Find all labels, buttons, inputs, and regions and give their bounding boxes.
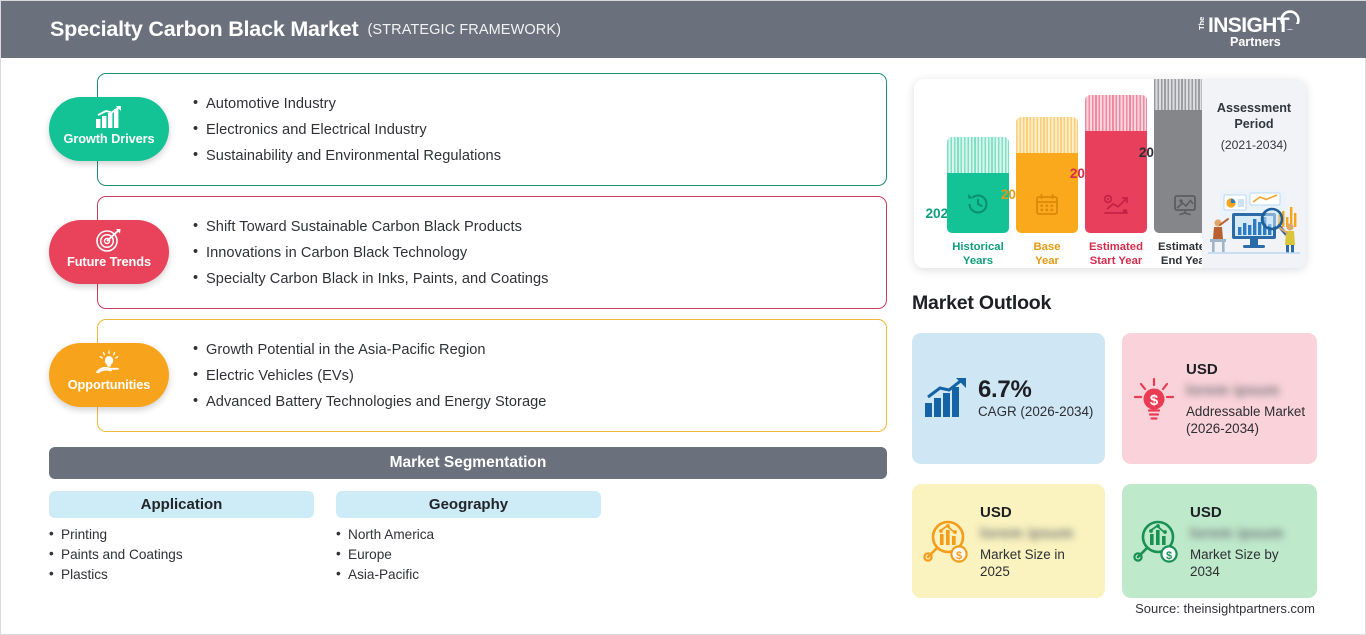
badge-label: Future Trends [67, 254, 151, 269]
assessment-bars: 2021-2024 Historical Years [914, 79, 1202, 268]
segmentation-column-title: Geography [429, 496, 508, 513]
list-item: Automotive Industry [193, 96, 501, 112]
currency-label: USD [1186, 360, 1309, 379]
list-item: Plastics [49, 567, 314, 582]
bar-caption: Base Year [1008, 241, 1086, 268]
market-outlook-title: Market Outlook [912, 292, 1051, 315]
bar-caption: Estimated Start Year [1077, 241, 1155, 268]
segmentation-column-application: Application Printing Paints and Coatings… [49, 491, 314, 587]
list-item: Growth Potential in the Asia-Pacific Reg… [193, 342, 546, 358]
svg-text:$: $ [956, 550, 962, 562]
card-caption: Addressable Market (2026-2034) [1186, 403, 1309, 437]
outlook-card-addressable-market: $ USD lorem ipsum Addressable Market (20… [1122, 333, 1317, 464]
list-item: Printing [49, 527, 314, 542]
market-segmentation-heading: Market Segmentation [49, 447, 887, 479]
svg-text:$: $ [1166, 550, 1172, 562]
svg-text:INSIGHT: INSIGHT [1208, 14, 1290, 37]
calendar-icon [1035, 193, 1060, 222]
bar-estimated-start-year [1085, 95, 1147, 233]
cagr-caption: CAGR (2026-2034) [978, 403, 1093, 420]
bar-caption: Historical Years [939, 241, 1017, 268]
redacted-value: lorem ipsum [1186, 380, 1309, 401]
list-item: Electronics and Electrical Industry [193, 122, 501, 138]
list-item: Advanced Battery Technologies and Energy… [193, 394, 546, 410]
list-item: Shift Toward Sustainable Carbon Black Pr… [193, 219, 549, 235]
list-item: Europe [336, 547, 601, 562]
data-analytics-illustration [1206, 187, 1302, 264]
chart-gear-icon [1102, 193, 1130, 222]
badge-future-trends[interactable]: Future Trends [49, 220, 169, 284]
pillar-box-growth-drivers: Automotive Industry Electronics and Elec… [97, 73, 887, 186]
badge-growth-drivers[interactable]: Growth Drivers [49, 97, 169, 161]
presentation-image-icon [1172, 193, 1198, 222]
segmentation-column-header: Geography [336, 491, 601, 518]
bar-chart-growth-icon [922, 377, 970, 421]
badge-opportunities[interactable]: Opportunities [49, 343, 169, 407]
future-trends-list: Shift Toward Sustainable Carbon Black Pr… [193, 197, 549, 308]
outlook-card-market-size-2034: $ USD lorem ipsum Market Size by 2034 [1122, 484, 1317, 598]
outlook-card-market-size-2025: $ USD lorem ipsum Market Size in 2025 [912, 484, 1105, 598]
assessment-period-card: 2021-2024 Historical Years [914, 79, 1306, 268]
card-caption: Market Size in 2025 [980, 546, 1097, 580]
application-items: Printing Paints and Coatings Plastics [49, 527, 314, 582]
lightbulb-dollar-icon: $ [1132, 375, 1178, 423]
currency-label: USD [980, 503, 1097, 522]
bar-stripe [1085, 95, 1147, 131]
svg-text:$: $ [1150, 392, 1159, 409]
outlook-card-cagr: 6.7% CAGR (2026-2034) [912, 333, 1105, 464]
target-dart-icon [95, 227, 123, 253]
redacted-value: lorem ipsum [1190, 523, 1309, 544]
page-subtitle: (STRATEGIC FRAMEWORK) [367, 22, 561, 38]
segmentation-column-geography: Geography North America Europe Asia-Paci… [336, 491, 601, 587]
market-segmentation-label: Market Segmentation [390, 454, 547, 472]
infographic-root: Specialty Carbon Black Market (STRATEGIC… [0, 0, 1366, 635]
badge-label: Growth Drivers [63, 131, 154, 146]
header-bar: Specialty Carbon Black Market (STRATEGIC… [1, 1, 1366, 58]
lightbulb-hand-icon [94, 350, 124, 376]
bar-body [1016, 153, 1078, 233]
geography-items: North America Europe Asia-Pacific [336, 527, 601, 582]
magnifier-chart-dollar-icon: $ [922, 518, 972, 564]
page-title: Specialty Carbon Black Market [50, 17, 358, 42]
badge-label: Opportunities [68, 377, 151, 392]
list-item: Specialty Carbon Black in Inks, Paints, … [193, 271, 549, 287]
list-item: Sustainability and Environmental Regulat… [193, 148, 501, 164]
bar-stripe [947, 137, 1009, 173]
bar-chart-growth-icon [94, 104, 124, 130]
card-caption: Market Size by 2034 [1190, 546, 1309, 580]
assessment-period-panel: Assessment Period (2021-2034) [1202, 79, 1306, 268]
opportunities-list: Growth Potential in the Asia-Pacific Reg… [193, 320, 546, 431]
list-item: Electric Vehicles (EVs) [193, 368, 546, 384]
cagr-value: 6.7% [978, 377, 1093, 403]
list-item: North America [336, 527, 601, 542]
magnifier-chart-dollar-icon: $ [1132, 518, 1182, 564]
pillar-box-future-trends: Shift Toward Sustainable Carbon Black Pr… [97, 196, 887, 309]
growth-drivers-list: Automotive Industry Electronics and Elec… [193, 74, 501, 185]
list-item: Innovations in Carbon Black Technology [193, 245, 549, 261]
assessment-period-title: Assessment Period [1210, 100, 1298, 132]
redacted-value: lorem ipsum [980, 523, 1097, 544]
list-item: Paints and Coatings [49, 547, 314, 562]
source-attribution: Source: theinsightpartners.com [1135, 601, 1315, 616]
list-item: Asia-Pacific [336, 567, 601, 582]
bar-body [947, 173, 1009, 233]
assessment-period-range: (2021-2034) [1210, 138, 1298, 152]
svg-text:Partners: Partners [1230, 35, 1281, 49]
segmentation-column-header: Application [49, 491, 314, 518]
segmentation-column-title: Application [141, 496, 223, 513]
pillar-box-opportunities: Growth Potential in the Asia-Pacific Reg… [97, 319, 887, 432]
svg-text:The: The [1197, 17, 1206, 30]
bar-stripe [1016, 117, 1078, 153]
insight-partners-logo: The INSIGHT Partners [1194, 9, 1309, 51]
currency-label: USD [1190, 503, 1309, 522]
bar-historical-years [947, 137, 1009, 233]
